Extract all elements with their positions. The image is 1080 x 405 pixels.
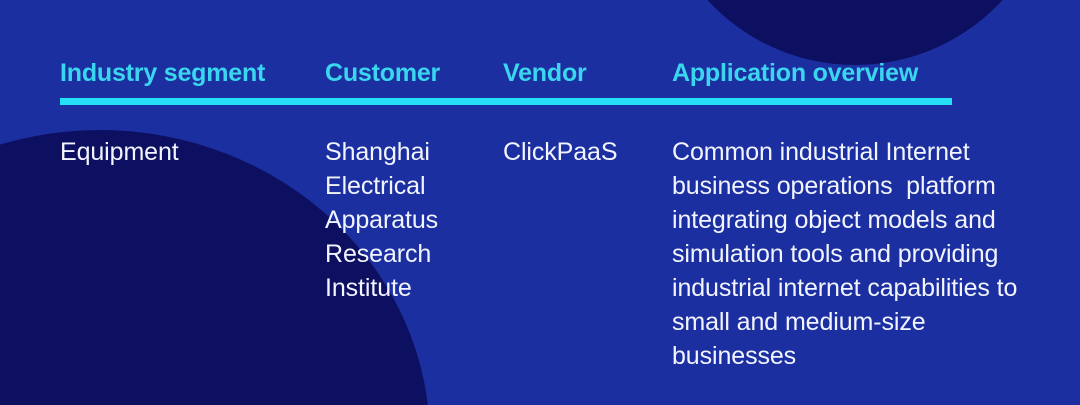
column-header-industry-segment: Industry segment xyxy=(60,58,315,88)
cell-application-overview: Common industrial Internet business oper… xyxy=(672,135,1052,373)
slide-canvas: Industry segment Customer Vendor Applica… xyxy=(0,0,1080,405)
table-header-row: Industry segment Customer Vendor Applica… xyxy=(0,58,1080,90)
cell-customer: Shanghai Electrical Apparatus Research I… xyxy=(325,135,495,305)
column-header-customer: Customer xyxy=(325,58,495,88)
header-underline-rule xyxy=(60,98,952,105)
column-header-application-overview: Application overview xyxy=(672,58,1052,88)
column-header-vendor: Vendor xyxy=(503,58,663,88)
cell-industry-segment: Equipment xyxy=(60,135,315,169)
cell-vendor: ClickPaaS xyxy=(503,135,663,169)
comparison-table: Industry segment Customer Vendor Applica… xyxy=(0,0,1080,405)
